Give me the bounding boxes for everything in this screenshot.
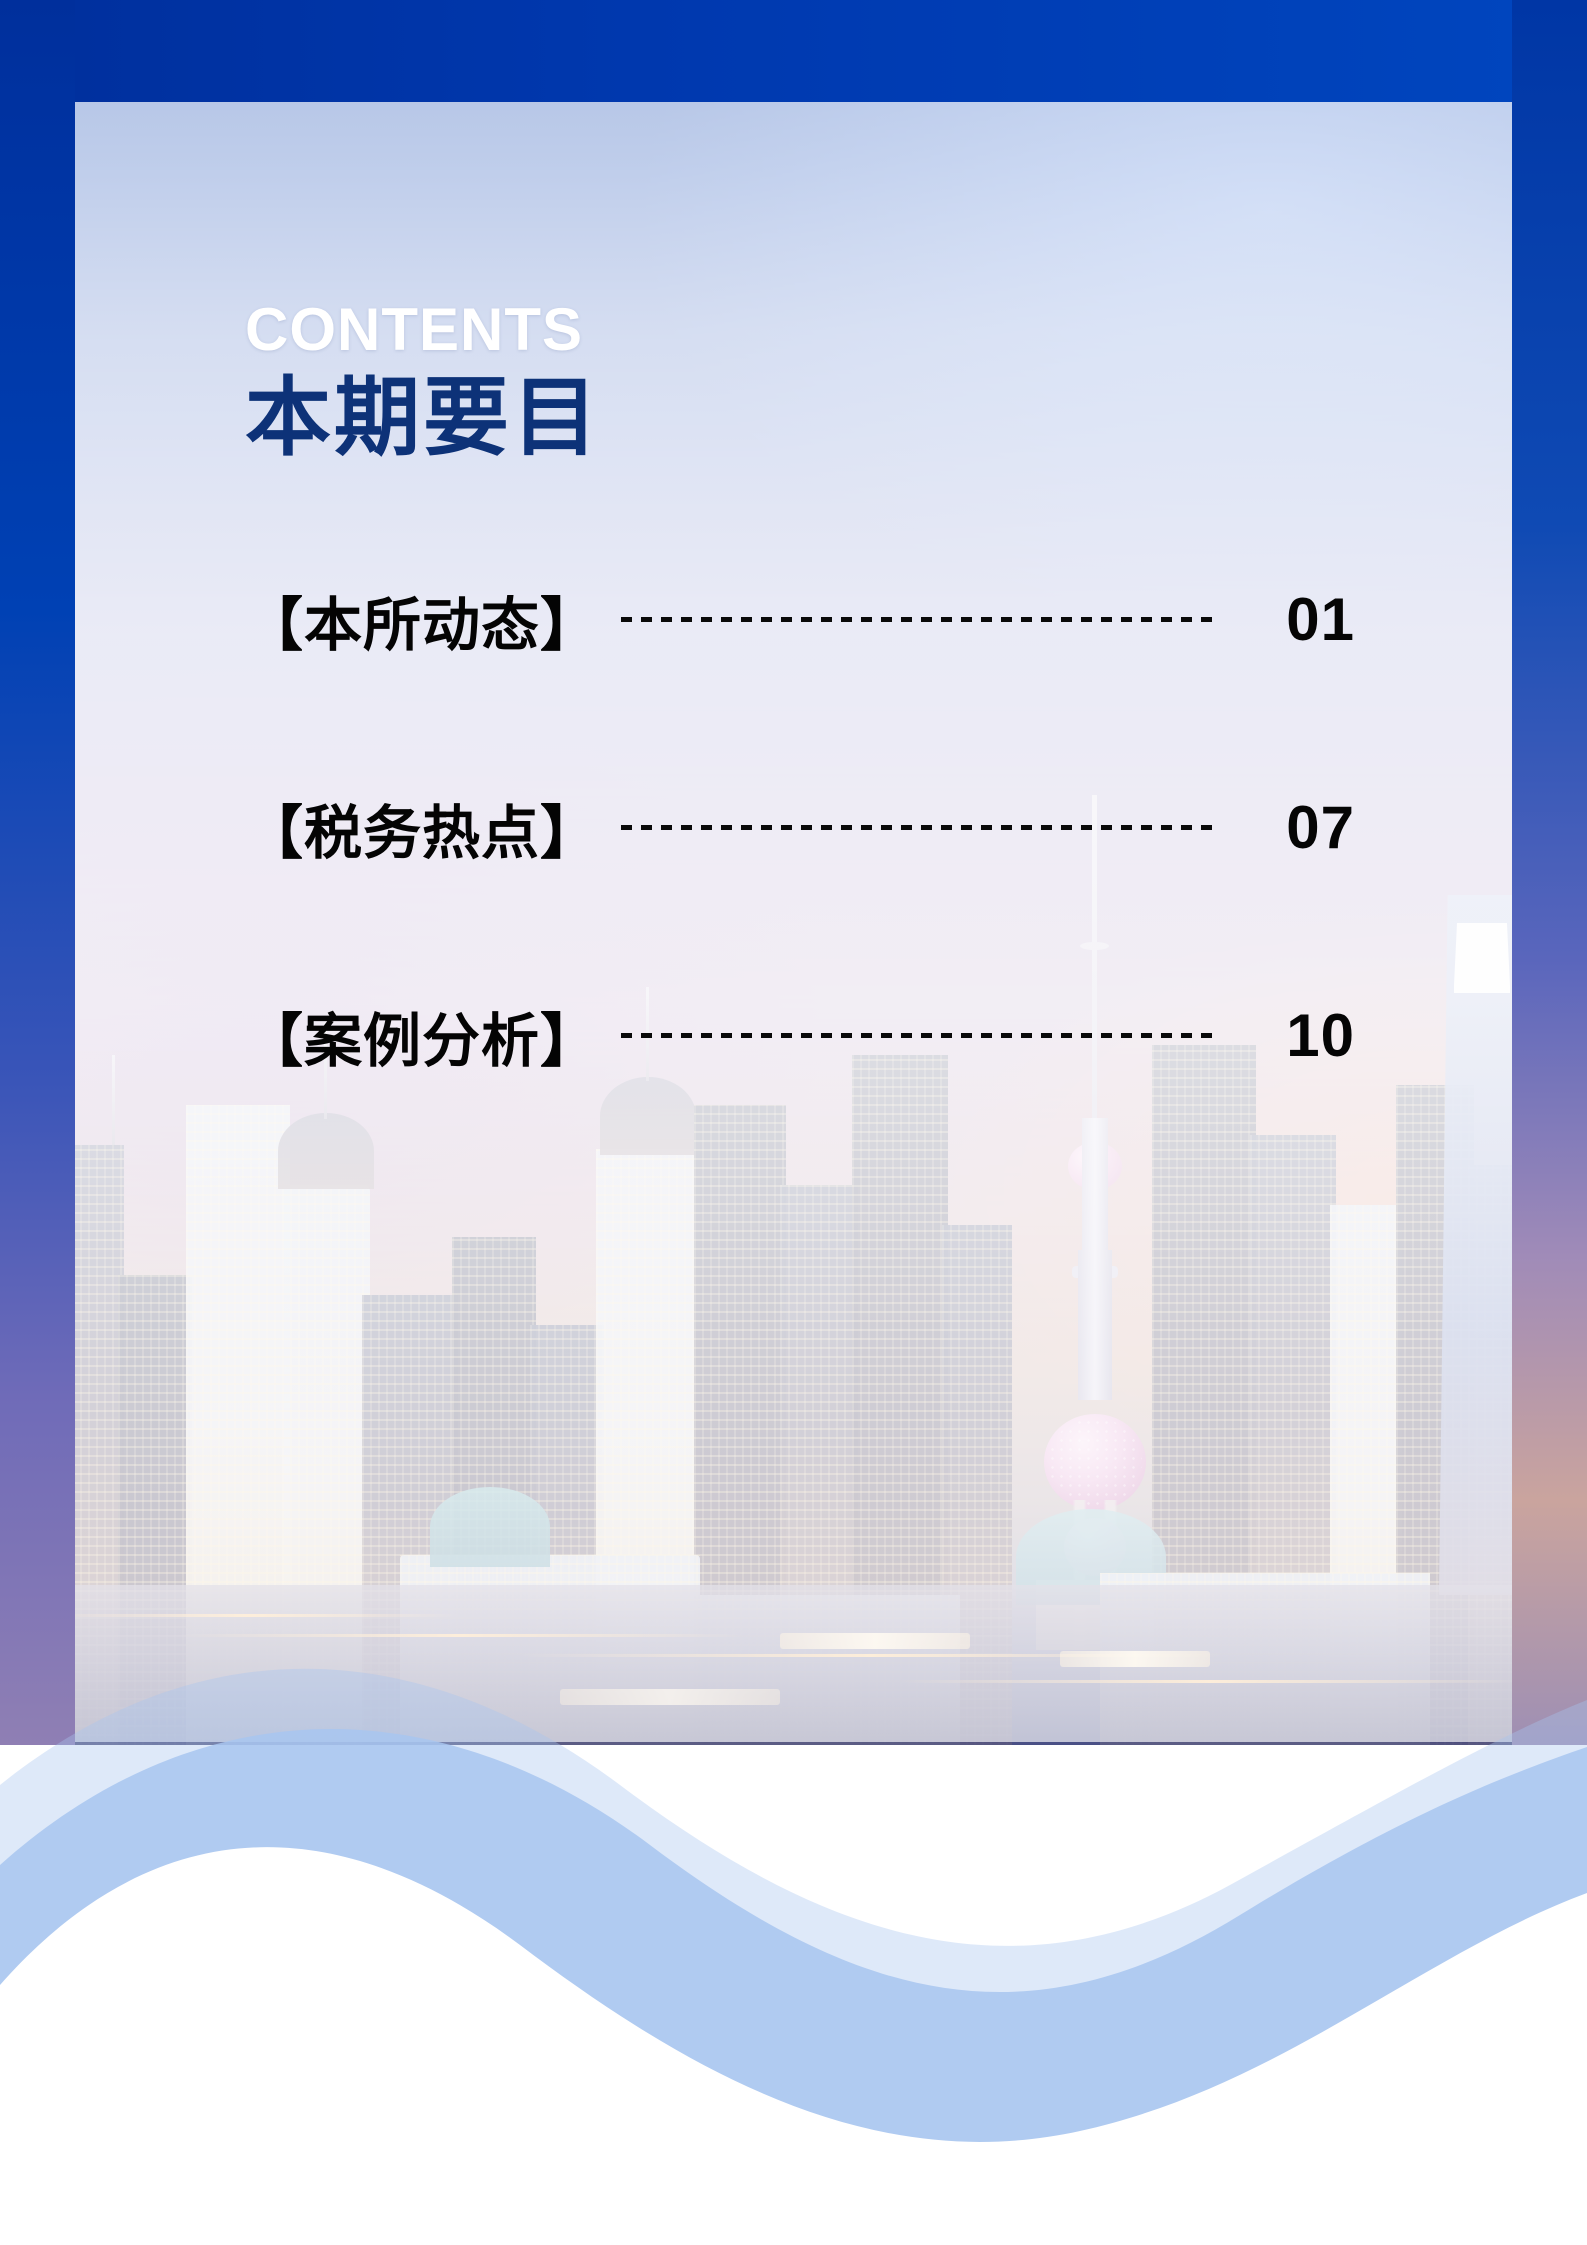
toc-entry[interactable]: 【本所动态】 01 — [245, 583, 1355, 657]
contents-block: CONTENTS 本期要目 【本所动态】 01 【税务热点】 07 【案例分析】… — [245, 300, 1355, 1073]
wave-decoration — [0, 1485, 1587, 2245]
toc-entry-label: 【本所动态】 — [245, 578, 599, 662]
toc-entry-page-number: 07 — [1247, 793, 1355, 862]
table-of-contents: 【本所动态】 01 【税务热点】 07 【案例分析】 10 — [245, 583, 1355, 1073]
cover-page: CONTENTS 本期要目 【本所动态】 01 【税务热点】 07 【案例分析】… — [0, 0, 1587, 2245]
toc-entry-label: 【案例分析】 — [245, 994, 599, 1078]
contents-heading-chinese: 本期要目 — [245, 372, 1355, 465]
toc-leader-dots — [621, 1033, 1221, 1038]
toc-leader-dots — [621, 617, 1221, 622]
toc-entry[interactable]: 【税务热点】 07 — [245, 791, 1355, 865]
toc-entry[interactable]: 【案例分析】 10 — [245, 999, 1355, 1073]
toc-entry-page-number: 10 — [1247, 1001, 1355, 1070]
toc-leader-dots — [621, 825, 1221, 830]
contents-heading-english: CONTENTS — [245, 300, 1355, 360]
toc-entry-page-number: 01 — [1247, 585, 1355, 654]
toc-entry-label: 【税务热点】 — [245, 786, 599, 870]
